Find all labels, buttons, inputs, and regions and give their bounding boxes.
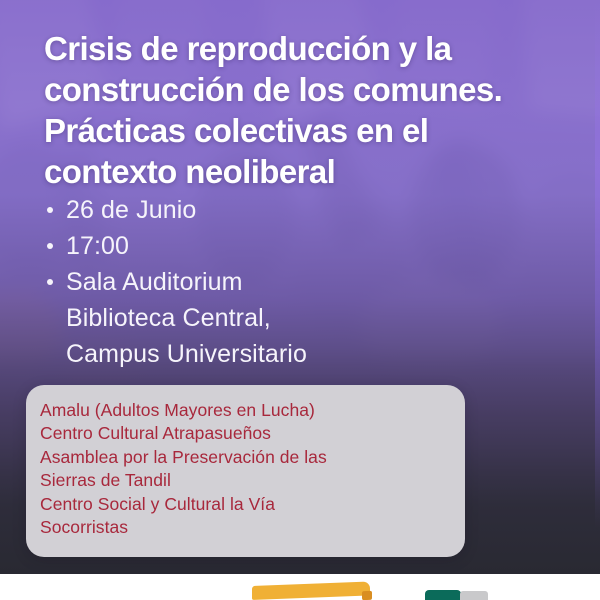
detail-venue-text: Sala Auditorium <box>66 268 243 296</box>
footer-logo-strip <box>0 574 600 600</box>
background-edge-glow <box>595 0 600 574</box>
detail-item-date: 26 de Junio <box>44 192 474 228</box>
organization-line: Socorristas <box>40 516 455 539</box>
detail-date-text: 26 de Junio <box>66 196 196 224</box>
organization-line: Centro Social y Cultural la Vía <box>40 493 455 516</box>
title-line-3: Prácticas colectivas en el <box>44 110 564 151</box>
grey-block-logo-icon <box>460 591 488 600</box>
title-line-4: contexto neoliberal <box>44 151 564 192</box>
organizations-list: Amalu (Adultos Mayores en Lucha) Centro … <box>40 399 455 539</box>
detail-venue-line-3: Campus Universitario <box>44 336 474 372</box>
green-block-logo-icon <box>425 590 461 600</box>
organization-line: Asamblea por la Preservación de las <box>40 446 455 469</box>
yellow-brush-logo-tip-icon <box>362 591 372 600</box>
detail-item-venue: Sala Auditorium <box>44 264 474 300</box>
detail-item-time: 17:00 <box>44 228 474 264</box>
organizations-card: Amalu (Adultos Mayores en Lucha) Centro … <box>26 385 465 557</box>
organization-line: Amalu (Adultos Mayores en Lucha) <box>40 399 455 422</box>
poster-title: Crisis de reproducción y la construcción… <box>44 28 564 192</box>
organization-line: Centro Cultural Atrapasueños <box>40 422 455 445</box>
event-poster: Crisis de reproducción y la construcción… <box>0 0 600 600</box>
title-line-1: Crisis de reproducción y la <box>44 28 564 69</box>
event-details-list: 26 de Junio 17:00 Sala Auditorium Biblio… <box>44 192 474 372</box>
title-line-2: construcción de los comunes. <box>44 69 564 110</box>
organization-line: Sierras de Tandil <box>40 469 455 492</box>
detail-time-text: 17:00 <box>66 232 129 260</box>
detail-venue-line-2: Biblioteca Central, <box>44 300 474 336</box>
yellow-brush-logo-icon <box>252 581 370 600</box>
